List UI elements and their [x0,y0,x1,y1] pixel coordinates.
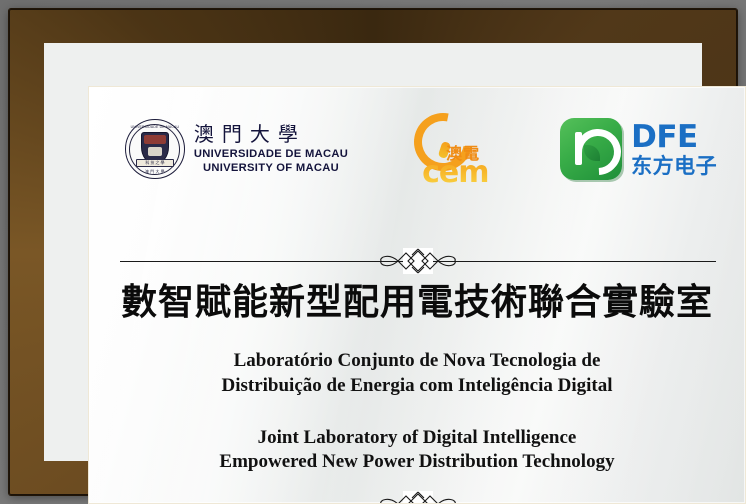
dfe-wordmark: DFE 东方电子 [631,122,717,177]
partner-logo-row: UNIVERSIDADE DE MACAU 科 技 之 學 澳 門 大 學 澳門… [89,101,745,197]
title-english-line1: Joint Laboratory of Digital Intelligence [89,426,745,450]
um-crest-arc-bottom: 澳 門 大 學 [126,170,184,175]
title-english: Joint Laboratory of Digital Intelligence… [89,426,745,475]
divider-top [120,248,716,274]
cem-logo: 澳電 cem [400,109,508,189]
cem-wordmark: cem [422,155,488,190]
um-crest-band: 科 技 之 學 [136,159,174,167]
divider-bottom-ornament-icon [375,491,461,504]
wooden-frame: UNIVERSIDADE DE MACAU 科 技 之 學 澳 門 大 學 澳門… [9,9,737,495]
university-of-macau-logo: UNIVERSIDADE DE MACAU 科 技 之 學 澳 門 大 學 澳門… [125,119,348,179]
dfe-bar-shape [575,132,582,165]
plaque-title-block: 數智賦能新型配用電技術聯合實驗室 Laboratório Conjunto de… [89,283,745,475]
dfe-english-name: DFE [631,122,717,153]
dfe-logo: DFE 东方电子 [560,118,717,180]
dfe-mark-icon [560,118,622,180]
um-english-name: UNIVERSITY OF MACAU [194,163,348,174]
title-portuguese: Laboratório Conjunto de Nova Tecnologia … [89,349,745,398]
um-chinese-name: 澳門大學 [194,124,348,144]
plaque-photo: UNIVERSIDADE DE MACAU 科 技 之 學 澳 門 大 學 澳門… [0,0,746,504]
title-chinese: 數智賦能新型配用電技術聯合實驗室 [89,283,745,323]
dfe-chinese-name: 东方电子 [631,156,717,177]
title-english-line2: Empowered New Power Distribution Technol… [89,450,745,474]
um-crest-arc-top: UNIVERSIDADE DE MACAU [126,125,184,129]
plaque-panel: UNIVERSIDADE DE MACAU 科 技 之 學 澳 門 大 學 澳門… [88,86,746,504]
divider-bottom [120,491,716,504]
um-crest-icon: UNIVERSIDADE DE MACAU 科 技 之 學 澳 門 大 學 [125,119,185,179]
title-portuguese-line2: Distribuição de Energia com Inteligência… [89,374,745,398]
um-portuguese-name: UNIVERSIDADE DE MACAU [194,149,348,160]
um-wordmark: 澳門大學 UNIVERSIDADE DE MACAU UNIVERSITY OF… [194,124,348,174]
title-portuguese-line1: Laboratório Conjunto de Nova Tecnologia … [89,349,745,373]
divider-top-ornament-icon [375,248,461,274]
